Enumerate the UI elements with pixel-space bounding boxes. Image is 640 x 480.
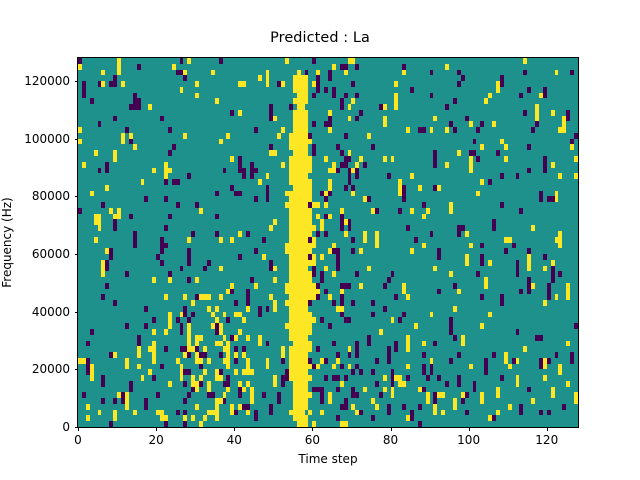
y-tick-mark: [75, 427, 79, 428]
x-tick-mark: [391, 427, 392, 431]
heatmap-plot-area: [77, 57, 579, 428]
x-tick-label: 20: [148, 433, 163, 447]
x-tick-mark: [312, 427, 313, 431]
matplotlib-figure: Predicted : La 020406080100120 020000400…: [0, 0, 640, 480]
y-axis-label: Frequency (Hz): [0, 58, 14, 427]
y-tick-mark: [75, 369, 79, 370]
x-tick-mark: [547, 427, 548, 431]
x-tick-label: 100: [457, 433, 480, 447]
x-tick-mark: [156, 427, 157, 431]
page-title: Predicted : La: [0, 30, 640, 46]
x-tick-mark: [234, 427, 235, 431]
x-tick-label: 40: [227, 433, 242, 447]
x-axis-label: Time step: [78, 452, 578, 466]
y-tick-mark: [75, 254, 79, 255]
x-tick-label: 80: [383, 433, 398, 447]
heatmap-canvas: [78, 58, 578, 427]
x-tick-label: 0: [74, 433, 82, 447]
x-tick-mark: [78, 427, 79, 431]
x-tick-mark: [469, 427, 470, 431]
y-tick-mark: [75, 196, 79, 197]
y-tick-mark: [75, 139, 79, 140]
x-tick-label: 60: [305, 433, 320, 447]
x-tick-label: 120: [535, 433, 558, 447]
y-tick-mark: [75, 81, 79, 82]
y-tick-mark: [75, 312, 79, 313]
